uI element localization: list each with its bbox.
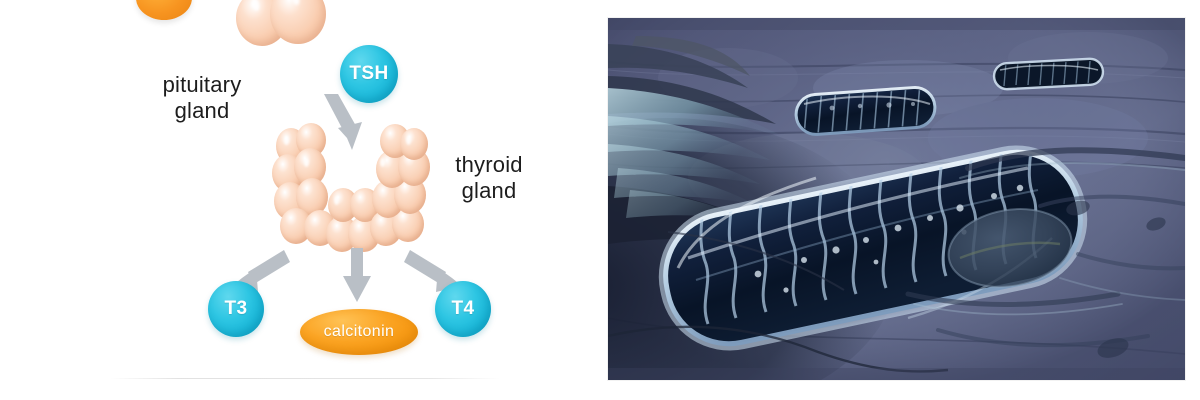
thyroid-highlight bbox=[334, 196, 339, 205]
thyroid-highlight bbox=[380, 158, 385, 167]
pituitary-gland-icon bbox=[236, 0, 332, 60]
mitochondria-image-panel bbox=[608, 18, 1185, 380]
calcitonin-bubble[interactable]: calcitonin bbox=[300, 309, 418, 355]
thyroid-diagram: pituitary gland bbox=[0, 0, 600, 400]
thyroid-highlight bbox=[284, 136, 289, 145]
mitochondrion-small-upper-right bbox=[993, 58, 1103, 90]
thyroid-highlight bbox=[406, 136, 411, 145]
thyroid-gland-label: thyroid gland bbox=[424, 152, 554, 204]
orange-bubble-clipped-icon bbox=[136, 0, 192, 20]
figure-stage: pituitary gland bbox=[0, 0, 1200, 400]
t4-bubble[interactable]: T4 bbox=[435, 281, 491, 337]
thyroid-diagram-panel: pituitary gland bbox=[0, 0, 600, 400]
arrow-thyroid-to-calcitonin-icon bbox=[341, 248, 373, 304]
thyroid-highlight bbox=[304, 158, 309, 167]
diagram-baseline-rule bbox=[110, 378, 500, 379]
tsh-bubble[interactable]: TSH bbox=[340, 45, 398, 103]
pituitary-gland-label: pituitary gland bbox=[122, 72, 282, 124]
mitochondria-microscopy-render bbox=[608, 18, 1185, 380]
t3-bubble[interactable]: T3 bbox=[208, 281, 264, 337]
